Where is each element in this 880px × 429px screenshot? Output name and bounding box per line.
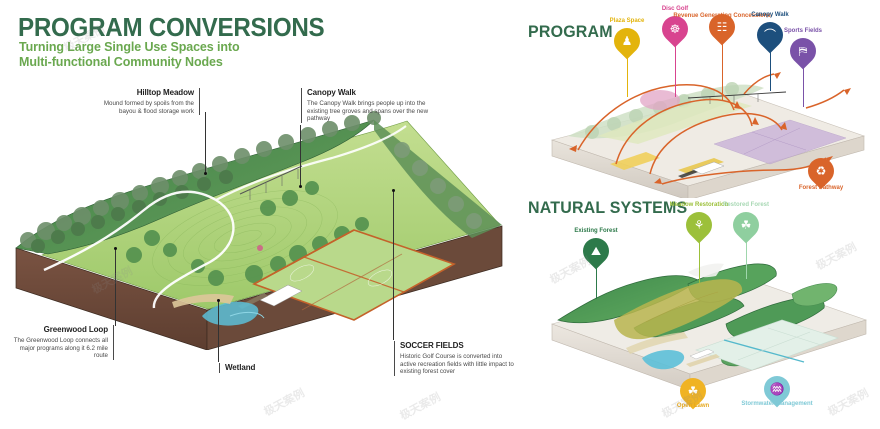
- leader-dot-wetland: [217, 299, 220, 302]
- sapling-icon: ☘: [733, 212, 759, 238]
- pin-stem: [770, 49, 771, 91]
- callout-hilltop-meadow: Hilltop Meadow Mound formed by spoils fr…: [98, 88, 200, 115]
- pin-label: Stormwater Management: [729, 401, 825, 408]
- pin-label: Existing Forest: [548, 228, 644, 235]
- leader-dot-greenwood: [114, 247, 117, 250]
- callout-title: Hilltop Meadow: [98, 88, 194, 98]
- leader-hilltop: [205, 112, 206, 174]
- pin-plaza-space[interactable]: ♟ Plaza Space: [614, 28, 640, 62]
- pin-stem: [722, 41, 723, 101]
- watermark: 极天案例: [397, 389, 443, 424]
- page-subtitle-line2: Multi-functional Community Nodes: [19, 55, 223, 69]
- pin-label: Canopy Walk: [722, 12, 818, 19]
- watermark: 极天案例: [261, 385, 307, 420]
- page-subtitle-line1: Turning Large Single Use Spaces into: [19, 40, 240, 54]
- callout-title: Canopy Walk: [307, 88, 433, 98]
- bridge-icon: ⌒: [757, 22, 783, 48]
- pin-sports-fields[interactable]: ⛿ Sports Fields: [790, 38, 816, 72]
- leader-dot-canopy: [299, 185, 302, 188]
- callout-title: SOCCER FIELDS: [400, 341, 520, 351]
- pin-meadow-restoration[interactable]: ⚘ Meadow Restoration: [686, 212, 712, 246]
- pin-stem: [596, 265, 597, 299]
- callout-greenwood-loop: Greenwood Loop The Greenwood Loop connec…: [8, 325, 114, 360]
- grass-icon: ⚘: [686, 212, 712, 238]
- presentation-board: PROGRAM CONVERSIONS Turning Large Single…: [0, 0, 880, 429]
- callout-canopy-walk: Canopy Walk The Canopy Walk brings peopl…: [301, 88, 433, 123]
- callout-body: The Greenwood Loop connects all major pr…: [8, 337, 108, 360]
- pin-label: Sports Fields: [755, 28, 851, 35]
- callout-body: Historic Golf Course is converted into a…: [400, 353, 520, 376]
- pin-disc-golf[interactable]: ☸ Disc Golf: [662, 16, 688, 50]
- pin-revenue-concessions[interactable]: ☷ Revenue Generating Concessions: [709, 14, 735, 48]
- pin-stem: [699, 239, 700, 283]
- person-icon: ♟: [614, 28, 640, 54]
- callout-body: Mound formed by spoils from the bayou & …: [98, 100, 194, 115]
- callout-wetland: Wetland: [219, 363, 299, 373]
- panel-title-program: PROGRAM: [528, 22, 613, 42]
- pin-forest-pathway[interactable]: ♻ Forest Pathway: [808, 158, 834, 190]
- pin-stem: [746, 239, 747, 279]
- pin-restored-forest[interactable]: ☘ Restored Forest: [733, 212, 759, 246]
- pin-label: Plaza Space: [579, 18, 675, 25]
- pin-stem: [627, 55, 628, 97]
- trail-icon: ♻: [808, 158, 834, 184]
- main-site-isometric: [2, 88, 530, 350]
- pin-stem: [675, 43, 676, 97]
- leader-dot-soccer: [392, 189, 395, 192]
- runner-icon: ⛿: [790, 38, 816, 64]
- pin-label: Restored Forest: [698, 202, 794, 209]
- callout-title: Greenwood Loop: [8, 325, 108, 335]
- callout-soccer-fields: SOCCER FIELDS Historic Golf Course is co…: [394, 341, 520, 376]
- leader-dot-hilltop: [204, 172, 207, 175]
- watermark: 极天案例: [825, 385, 871, 420]
- pin-stem: [803, 65, 804, 107]
- pin-stormwater-management[interactable]: ♒ Stormwater Management: [764, 376, 790, 408]
- leader-soccer: [393, 190, 394, 340]
- callout-title: Wetland: [225, 363, 299, 373]
- callout-body: The Canopy Walk brings people up into th…: [307, 100, 433, 123]
- leader-canopy: [300, 125, 301, 187]
- leader-wetland: [218, 300, 219, 362]
- pin-label: Forest Pathway: [773, 185, 869, 192]
- water-drop-icon: ♒: [764, 376, 790, 402]
